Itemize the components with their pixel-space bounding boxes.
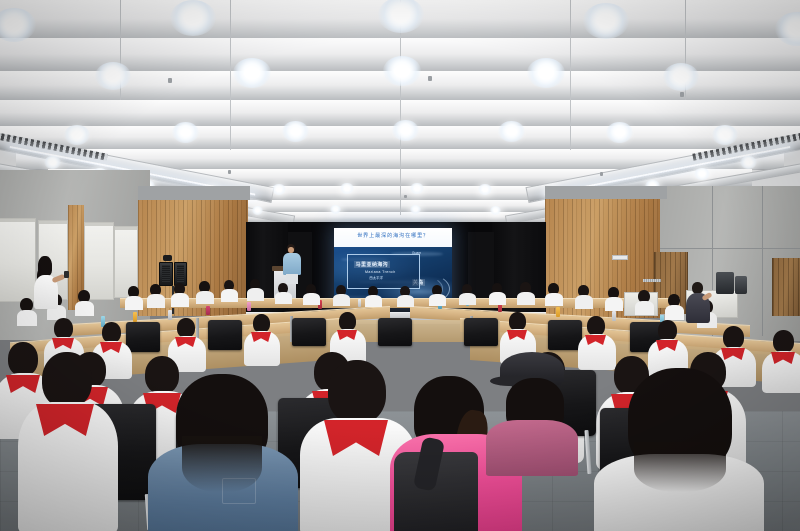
- person-white-shirt: [594, 368, 764, 531]
- hair-overlay: [182, 436, 262, 492]
- head: [42, 352, 92, 408]
- torso: [486, 420, 578, 476]
- student-foreground-left: [18, 352, 118, 531]
- auditorium-scene: 世界上最深的海沟在哪里？ Guam 关岛 马里亚纳海沟 Mariana Tren…: [0, 0, 800, 531]
- woman-denim-shirt: [148, 374, 298, 531]
- hair-overlay: [634, 442, 726, 492]
- head: [328, 360, 386, 424]
- person-dark-cap: [486, 352, 578, 472]
